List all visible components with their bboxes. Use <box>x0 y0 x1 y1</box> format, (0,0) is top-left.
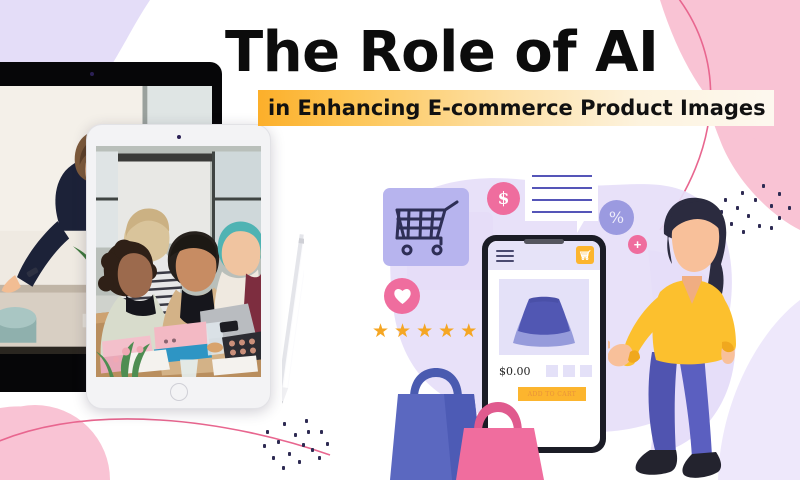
shopping-bags <box>388 350 558 480</box>
phone-speaker-notch <box>524 239 564 244</box>
laptop-camera-icon <box>90 72 94 76</box>
person-illustration <box>608 192 743 480</box>
star-icon: ★ <box>438 322 455 341</box>
blob-pink-bottomleft-b <box>0 405 110 480</box>
page-subtitle: in Enhancing E-commerce Product Images <box>258 96 766 120</box>
rating-stars: ★ ★ ★ ★ ★ <box>372 322 477 341</box>
headline-block: The Role of AI <box>225 22 780 84</box>
stylus-pen <box>282 228 304 408</box>
dollar-badge: $ <box>487 182 520 215</box>
tablet-camera-icon <box>177 135 181 139</box>
bag-pink-body <box>456 428 544 480</box>
tablet-home-button[interactable] <box>170 383 188 401</box>
star-icon: ★ <box>460 322 477 341</box>
bag-blue-handle <box>410 368 462 398</box>
hamburger-menu-icon[interactable] <box>496 250 514 265</box>
star-icon: ★ <box>416 322 433 341</box>
phone-topbar <box>488 241 600 270</box>
dollar-badge-label: $ <box>498 189 510 209</box>
shopping-cart-icon[interactable] <box>576 246 594 264</box>
dot-cluster-left <box>258 418 338 476</box>
tablet-screen <box>96 146 261 377</box>
swatch-option[interactable] <box>580 365 592 377</box>
skirt-upper <box>518 299 570 335</box>
shopping-cart-tile <box>383 188 469 266</box>
page-title: The Role of AI <box>225 22 780 84</box>
speech-bubble <box>525 165 598 221</box>
swatch-option[interactable] <box>563 365 575 377</box>
star-icon: ★ <box>372 322 389 341</box>
heart-icon <box>393 287 412 305</box>
banner-canvas: ★ ★ ★ ★ ★ $ % + <box>0 0 800 480</box>
product-image[interactable] <box>499 279 589 355</box>
speech-bubble-tail <box>577 221 584 233</box>
ecommerce-illustration: ★ ★ ★ ★ ★ $ % + <box>360 150 800 480</box>
heart-badge <box>384 278 420 314</box>
tablet-mockup <box>86 124 271 409</box>
subtitle-bar: in Enhancing E-commerce Product Images <box>258 90 774 126</box>
tablet-photo <box>96 146 261 377</box>
bag-pink-handle <box>474 402 522 432</box>
star-icon: ★ <box>394 322 411 341</box>
